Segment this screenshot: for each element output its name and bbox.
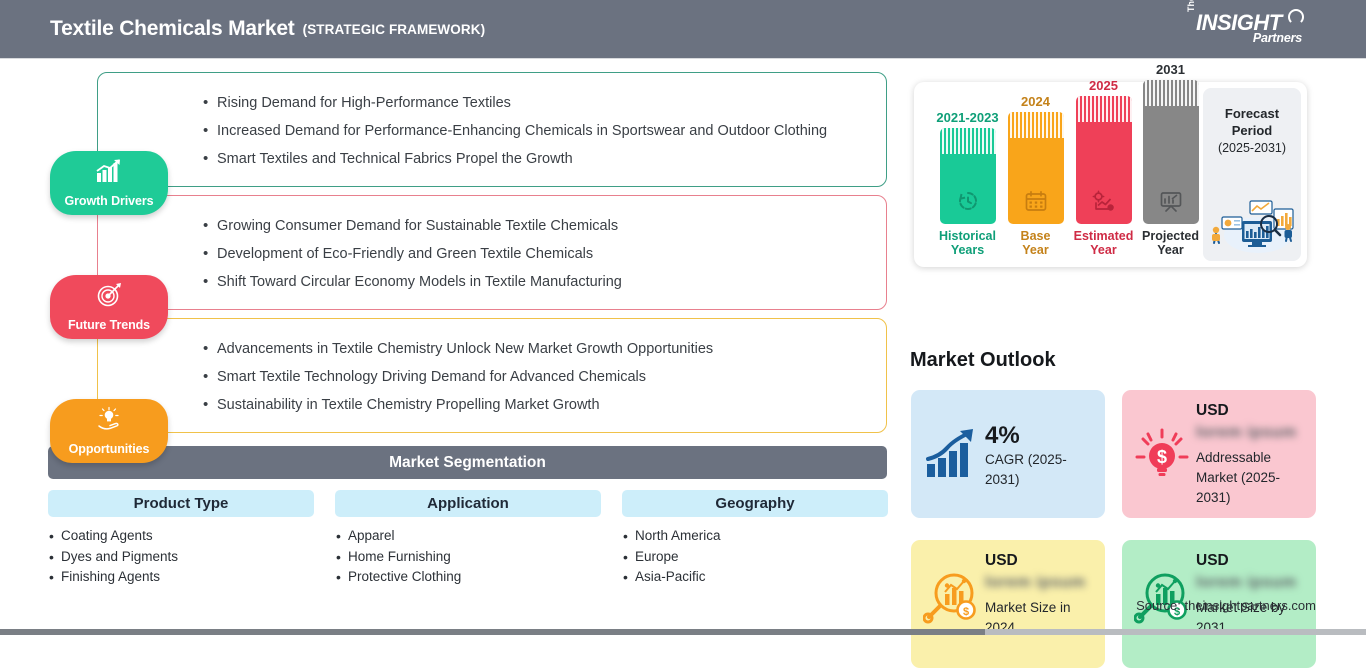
timeline-bar-stripe (1008, 112, 1064, 138)
badge-label: Future Trends (50, 318, 168, 332)
bar-chart-arrow-up-icon (95, 158, 123, 184)
outlook-card-body: 4% CAGR (2025-2031) (985, 422, 1097, 490)
timeline-caption: Base Year (1004, 229, 1067, 257)
currency-label: USD (1196, 402, 1308, 420)
timeline-bar-solid (1076, 122, 1132, 224)
timeline-bar-projected: 2031 Projected Year (1139, 62, 1202, 257)
list-item: Smart Textile Technology Driving Demand … (203, 363, 886, 391)
outlook-card-addressable-market: $ USD lorem ipsum Addressable Market (20… (1122, 390, 1316, 518)
panel-opportunities: Advancements in Textile Chemistry Unlock… (97, 318, 887, 433)
timeline-caption: Estimated Year (1072, 229, 1135, 257)
svg-text:$: $ (963, 606, 969, 618)
list-item: Europe (622, 547, 888, 568)
history-clock-icon (956, 190, 980, 212)
timeline-caption: Projected Year (1139, 229, 1202, 257)
currency-label: USD (1196, 552, 1308, 570)
forecast-title-line1: Forecast (1203, 105, 1301, 122)
timeline-bars: 2021-2023 Historical Years (928, 82, 1198, 267)
list-item: Finishing Agents (48, 567, 314, 588)
list-item: Asia-Pacific (622, 567, 888, 588)
blurred-value: lorem ipsum (1196, 574, 1308, 593)
segmentation-title: Geography (622, 490, 888, 517)
timeline-bar-shape (1008, 112, 1064, 224)
list-item: Home Furnishing (335, 547, 601, 568)
presentation-chart-icon (1159, 190, 1183, 212)
list-item: Apparel (335, 526, 601, 547)
segmentation-column-product-type: Product Type Coating Agents Dyes and Pig… (48, 490, 314, 588)
panel-future-trends: Growing Consumer Demand for Sustainable … (97, 195, 887, 310)
segmentation-list: North America Europe Asia-Pacific (622, 526, 888, 588)
badge-label: Growth Drivers (50, 194, 168, 208)
blurred-value: lorem ipsum (1196, 424, 1308, 443)
bullet-list-opportunities: Advancements in Textile Chemistry Unlock… (98, 319, 886, 419)
lightbulb-in-hand-icon (95, 406, 123, 432)
badge-label: Opportunities (50, 442, 168, 456)
bulb-dollar-icon: $ (1134, 426, 1190, 482)
timeline-bar-solid (1008, 138, 1064, 224)
bar-chart-arrow-up-icon (923, 426, 979, 482)
timeline-bar-stripe (1143, 80, 1199, 106)
outlook-card-body: USD lorem ipsum Market Size by 2031 (1196, 552, 1308, 638)
blurred-value: lorem ipsum (985, 574, 1097, 593)
list-item: Sustainability in Textile Chemistry Prop… (203, 391, 886, 419)
timeline-year: 2025 (1072, 78, 1135, 93)
list-item: Smart Textiles and Technical Fabrics Pro… (203, 145, 886, 173)
segmentation-title: Product Type (48, 490, 314, 517)
insight-partners-logo[interactable]: The INSIGHT Partners (1186, 9, 1306, 49)
timeline-bar-historical: 2021-2023 Historical Years (936, 110, 999, 257)
segmentation-column-geography: Geography North America Europe Asia-Paci… (622, 490, 888, 588)
timeline-bar-shape (940, 128, 996, 224)
list-item: Increased Demand for Performance-Enhanci… (203, 117, 886, 145)
segmentation-title: Application (335, 490, 601, 517)
chart-gear-icon (1092, 190, 1116, 212)
timeline-year: 2021-2023 (936, 110, 999, 125)
list-item: Protective Clothing (335, 567, 601, 588)
list-item: North America (622, 526, 888, 547)
badge-opportunities[interactable]: Opportunities (50, 399, 168, 463)
forecast-period-range: (2025-2031) (1203, 141, 1301, 155)
forecast-period-panel: Forecast Period (2025-2031) (1203, 88, 1301, 261)
horizontal-scrollbar-thumb[interactable] (0, 629, 985, 635)
segmentation-list: Coating Agents Dyes and Pigments Finishi… (48, 526, 314, 588)
outlook-card-cagr: 4% CAGR (2025-2031) (911, 390, 1105, 518)
logo-partners-text: Partners (1253, 31, 1302, 45)
svg-text:$: $ (1157, 447, 1167, 467)
market-segmentation-header: Market Segmentation (48, 446, 887, 479)
card-label: Addressable Market (2025-2031) (1196, 448, 1308, 508)
target-dart-icon (95, 282, 123, 308)
segmentation-column-application: Application Apparel Home Furnishing Prot… (335, 490, 601, 588)
currency-label: USD (985, 552, 1097, 570)
panel-growth-drivers: Rising Demand for High-Performance Texti… (97, 72, 887, 187)
logo-the-text: The (1186, 0, 1196, 12)
segmentation-list: Apparel Home Furnishing Protective Cloth… (335, 526, 601, 588)
timeline-year: 2024 (1004, 94, 1067, 109)
market-outlook-title: Market Outlook (910, 349, 1056, 372)
calendar-icon (1024, 190, 1048, 212)
horizontal-scrollbar-track[interactable] (0, 629, 1366, 635)
list-item: Shift Toward Circular Economy Models in … (203, 268, 886, 296)
badge-future-trends[interactable]: Future Trends (50, 275, 168, 339)
timeline-bar-solid (1143, 106, 1199, 224)
magnifier-bar-chart-dollar-icon: $ (923, 570, 979, 626)
timeline-year: 2031 (1139, 62, 1202, 77)
list-item: Rising Demand for High-Performance Texti… (203, 89, 886, 117)
timeline-bar-estimated: 2025 (1072, 78, 1135, 257)
page-title: Textile Chemicals Market (50, 17, 295, 41)
cagr-value: 4% (985, 422, 1097, 450)
outlook-card-market-size-2024: $ USD lorem ipsum Market Size in 2024 (911, 540, 1105, 668)
list-item: Growing Consumer Demand for Sustainable … (203, 212, 886, 240)
page-subtitle: (STRATEGIC FRAMEWORK) (303, 22, 486, 37)
list-item: Development of Eco-Friendly and Green Te… (203, 240, 886, 268)
data-analysis-illustration (1206, 191, 1298, 255)
timeline-bar-stripe (1076, 96, 1132, 122)
logo-ring-icon (1288, 9, 1304, 25)
bullet-list-growth-drivers: Rising Demand for High-Performance Texti… (98, 73, 886, 173)
timeline-caption: Historical Years (936, 229, 999, 257)
timeline-bar-shape (1076, 96, 1132, 224)
badge-growth-drivers[interactable]: Growth Drivers (50, 151, 168, 215)
source-attribution: Source: theinsightpartners.com (1136, 598, 1316, 613)
cagr-label: CAGR (2025-2031) (985, 450, 1097, 490)
outlook-card-body: USD lorem ipsum Market Size in 2024 (985, 552, 1097, 638)
outlook-card-body: USD lorem ipsum Addressable Market (2025… (1196, 402, 1308, 508)
timeline-card: 2021-2023 Historical Years (914, 82, 1307, 267)
timeline-bar-solid (940, 154, 996, 224)
forecast-title-line2: Period (1203, 122, 1301, 139)
bullet-list-future-trends: Growing Consumer Demand for Sustainable … (98, 196, 886, 296)
timeline-bar-base: 2024 (1004, 94, 1067, 257)
timeline-bar-stripe (940, 128, 996, 154)
page-header: Textile Chemicals Market (STRATEGIC FRAM… (0, 0, 1366, 58)
content-canvas: Rising Demand for High-Performance Texti… (0, 58, 1366, 629)
list-item: Coating Agents (48, 526, 314, 547)
list-item: Dyes and Pigments (48, 547, 314, 568)
timeline-bar-shape (1143, 80, 1199, 224)
list-item: Advancements in Textile Chemistry Unlock… (203, 335, 886, 363)
